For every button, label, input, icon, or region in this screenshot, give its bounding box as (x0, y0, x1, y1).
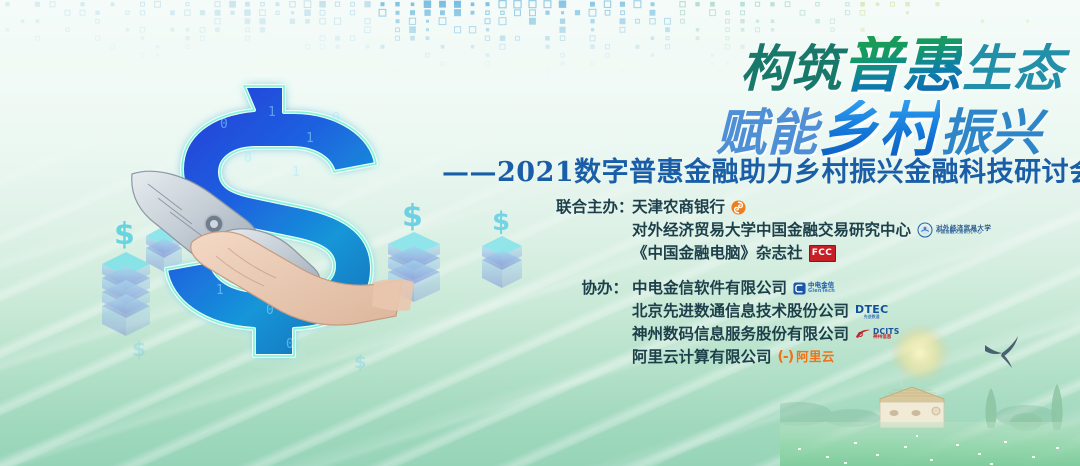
cec-logo-subtext: GienTech (808, 289, 835, 294)
title-line-1: 构筑普惠生态 (464, 36, 1064, 96)
svg-text:0: 0 (332, 111, 340, 126)
banner-subtitle: ——2021数字普惠金融助力乡村振兴金融科技研讨会 (442, 150, 1062, 189)
trees (985, 384, 1062, 431)
credit-entry-name: 神州数码信息服务股份有限公司 (628, 323, 849, 345)
trcb-spiral-logo (731, 200, 746, 215)
fcc-logo-text: FCC (809, 245, 836, 262)
svg-text:$: $ (402, 199, 423, 234)
credit-group-co-organizers: 联合主办： 天津农商银行 对外经济贸易大学中国金融交易研究中心 (556, 196, 986, 264)
uibe-emblem-icon (917, 222, 933, 238)
dollar-symbol: 011 010 101 01 (166, 86, 376, 356)
distant-hills (780, 402, 1056, 427)
credits-block: 联合主办： 天津农商银行 对外经济贸易大学中国金融交易研究中心 (556, 196, 986, 381)
credit-entry-name: 天津农商银行 (628, 196, 725, 218)
svg-text:1: 1 (306, 131, 314, 146)
dtec-logo-text: DTEC (855, 304, 888, 315)
svg-text:0: 0 (244, 151, 252, 166)
title-seg-shengtai: 生态 (962, 44, 1064, 94)
credit-entry-name: 《中国金融电脑》杂志社 (628, 242, 803, 264)
credit-row: 阿里云计算有限公司 (-) 阿里云 (556, 346, 986, 368)
uibe-logo-subtext: 中国金融交易研究中心 (936, 231, 991, 235)
dcits-logo: DCITS 神州信息 (855, 328, 900, 341)
svg-text:1: 1 (268, 105, 276, 120)
credit-group-co-sponsors: 协办： 中电金信软件有限公司 中电金信 GienTech 北京先进数通信息技术股… (556, 277, 986, 368)
svg-text:0: 0 (266, 303, 274, 318)
svg-text:1: 1 (310, 273, 318, 288)
alibaba-cloud-mark: (-) (778, 346, 794, 368)
dcits-swoosh-icon (855, 328, 871, 340)
green-field (780, 422, 1080, 466)
svg-text:$: $ (492, 207, 510, 237)
svg-text:0: 0 (220, 117, 228, 132)
coin-stack-group: $ $ (102, 199, 522, 373)
title-seg-gouzhu: 构筑 (740, 44, 842, 94)
cec-gientech-logo: 中电金信 GienTech (793, 282, 835, 295)
credit-entry-name: 对外经济贸易大学中国金融交易研究中心 (628, 219, 911, 241)
credit-row: 对外经济贸易大学中国金融交易研究中心 对外经济贸易大学 中国金融交易研究中心 (556, 219, 986, 241)
cec-mark-icon (793, 282, 806, 295)
event-banner: $ $ (0, 0, 1080, 466)
alibaba-cloud-logo: (-) 阿里云 (778, 346, 835, 368)
field-flecks (798, 435, 1059, 465)
svg-text:1: 1 (292, 165, 300, 180)
credit-row: 北京先进数通信息技术股份公司 DTEC 先进数通 (556, 300, 986, 322)
credit-entry-name: 阿里云计算有限公司 (628, 346, 772, 368)
svg-text:1: 1 (332, 313, 340, 328)
dtec-logo-subtext: 先进数通 (864, 315, 880, 319)
fcc-logo: FCC (809, 245, 836, 262)
svg-text:$: $ (354, 352, 367, 373)
title-seg-puhui: 普惠 (842, 36, 962, 96)
svg-text:$: $ (132, 337, 146, 361)
credit-entry-name: 中电金信软件有限公司 (628, 277, 787, 299)
credit-label-co-organizers: 联合主办： (556, 196, 628, 218)
uibe-logo: 对外经济贸易大学 中国金融交易研究中心 (917, 222, 991, 238)
credit-label-co-sponsors: 协办： (556, 277, 628, 299)
banner-title: 构筑普惠生态 赋能乡村振兴 (464, 36, 1064, 160)
handshake-illustration (132, 171, 414, 325)
credit-entry-name: 北京先进数通信息技术股份公司 (628, 300, 849, 322)
svg-text:$: $ (154, 203, 169, 228)
credit-row: 神州数码信息服务股份有限公司 DCITS 神州信息 (556, 323, 986, 345)
dtec-logo: DTEC 先进数通 (855, 304, 888, 319)
dcits-logo-subtext: 神州信息 (873, 336, 900, 341)
credit-row: 协办： 中电金信软件有限公司 中电金信 GienTech (556, 277, 986, 299)
credit-row: 《中国金融电脑》杂志社 FCC (556, 242, 986, 264)
credit-row: 联合主办： 天津农商银行 (556, 196, 986, 218)
alibaba-cloud-text: 阿里云 (796, 346, 834, 368)
svg-text:$: $ (114, 217, 135, 252)
swallow-bird-icon (985, 336, 1018, 368)
svg-text:1: 1 (216, 283, 224, 298)
svg-text:0: 0 (286, 337, 294, 352)
